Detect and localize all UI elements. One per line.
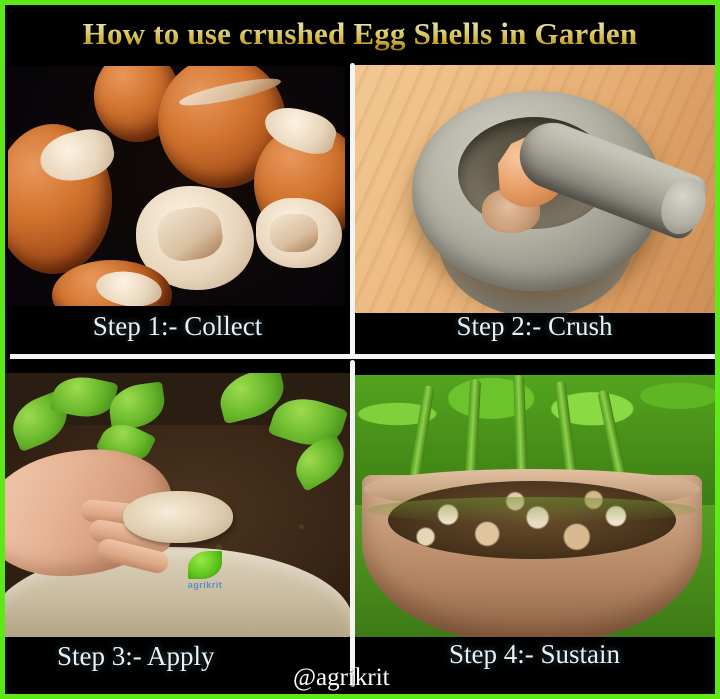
step-4-caption: Step 4:- Sustain <box>354 639 715 670</box>
terracotta-pot <box>362 475 702 637</box>
leaf-icon <box>188 551 222 579</box>
infographic-poster: How to use crushed Egg Shells in Garden … <box>0 0 720 699</box>
step-2-photo <box>354 65 715 313</box>
step-1-photo <box>8 66 345 306</box>
step-cell-2: Step 2:- Crush <box>354 62 715 352</box>
pot-moss <box>368 497 696 523</box>
step-3-photo: agrikrit <box>5 373 350 637</box>
step-cell-1: Step 1:- Collect <box>5 62 350 352</box>
title-band: How to use crushed Egg Shells in Garden <box>5 5 715 62</box>
step-cell-4: Step 4:- Sustain <box>354 357 715 694</box>
watermark-handle: @agrikrit <box>293 664 390 692</box>
step-cell-3: agrikrit Step 3:- Apply <box>5 357 350 694</box>
crushed-shells-pile <box>123 491 233 543</box>
step-2-caption: Step 2:- Crush <box>354 311 715 342</box>
divider-horizontal <box>10 354 715 359</box>
poster-title: How to use crushed Egg Shells in Garden <box>83 16 638 52</box>
step-1-caption: Step 1:- Collect <box>5 311 350 342</box>
steps-grid: Step 1:- Collect Step 2:- Crush <box>5 62 715 694</box>
agrikrit-logo: agrikrit <box>177 551 233 601</box>
agrikrit-logo-text: agrikrit <box>177 580 233 590</box>
step-4-photo <box>354 375 715 637</box>
divider-vertical-top <box>350 63 355 358</box>
divider-vertical-bottom <box>350 360 355 687</box>
